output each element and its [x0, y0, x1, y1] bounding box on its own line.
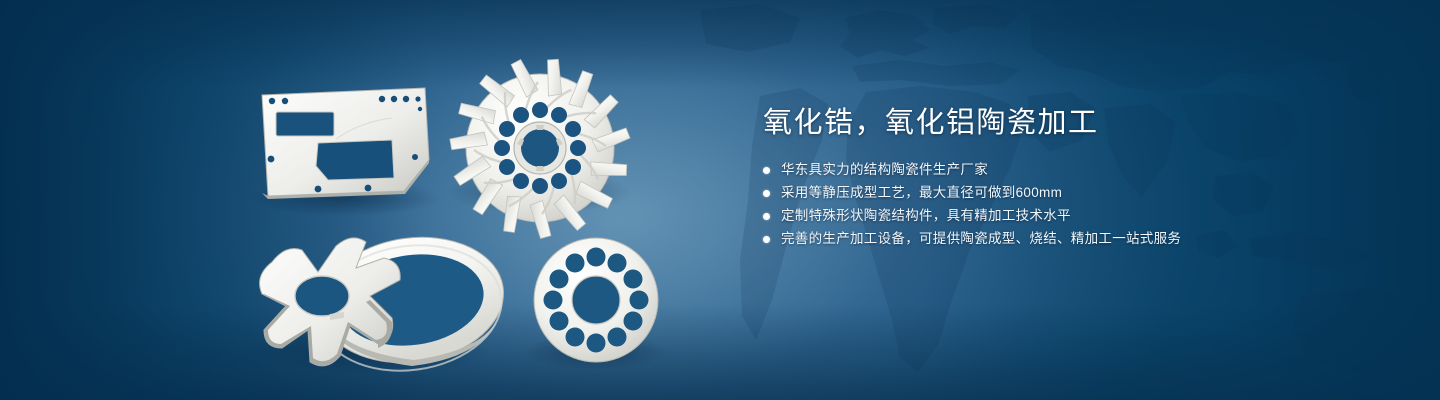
feature-item: 采用等静压成型工艺，最大直径可做到600mm	[763, 185, 1383, 201]
banner-headline: 氧化锆，氧化铝陶瓷加工	[763, 106, 1383, 140]
banner-feature-list: 华东具实力的结构陶瓷件生产厂家 采用等静压成型工艺，最大直径可做到600mm 定…	[763, 162, 1383, 247]
feature-item: 华东具实力的结构陶瓷件生产厂家	[763, 162, 1383, 178]
feature-item: 定制特殊形状陶瓷结构件，具有精加工技术水平	[763, 208, 1383, 224]
banner-copy: 氧化锆，氧化铝陶瓷加工 华东具实力的结构陶瓷件生产厂家 采用等静压成型工艺，最大…	[763, 106, 1383, 254]
ceramic-mounting-plate-shape	[262, 88, 429, 199]
product-photo-group	[0, 0, 700, 400]
feature-item: 完善的生产加工设备，可提供陶瓷成型、烧结、精加工一站式服务	[763, 231, 1383, 247]
ceramic-impeller-shape	[448, 56, 631, 239]
bullet-dot-icon	[763, 190, 770, 197]
feature-text: 完善的生产加工设备，可提供陶瓷成型、烧结、精加工一站式服务	[781, 231, 1181, 247]
feature-text: 采用等静压成型工艺，最大直径可做到600mm	[781, 185, 1062, 201]
bullet-dot-icon	[763, 213, 770, 220]
feature-text: 定制特殊形状陶瓷结构件，具有精加工技术水平	[781, 208, 1071, 224]
feature-text: 华东具实力的结构陶瓷件生产厂家	[781, 162, 988, 178]
promo-banner: 氧化锆，氧化铝陶瓷加工 华东具实力的结构陶瓷件生产厂家 采用等静压成型工艺，最大…	[0, 0, 1440, 400]
bullet-dot-icon	[763, 236, 770, 243]
bullet-dot-icon	[763, 167, 770, 174]
